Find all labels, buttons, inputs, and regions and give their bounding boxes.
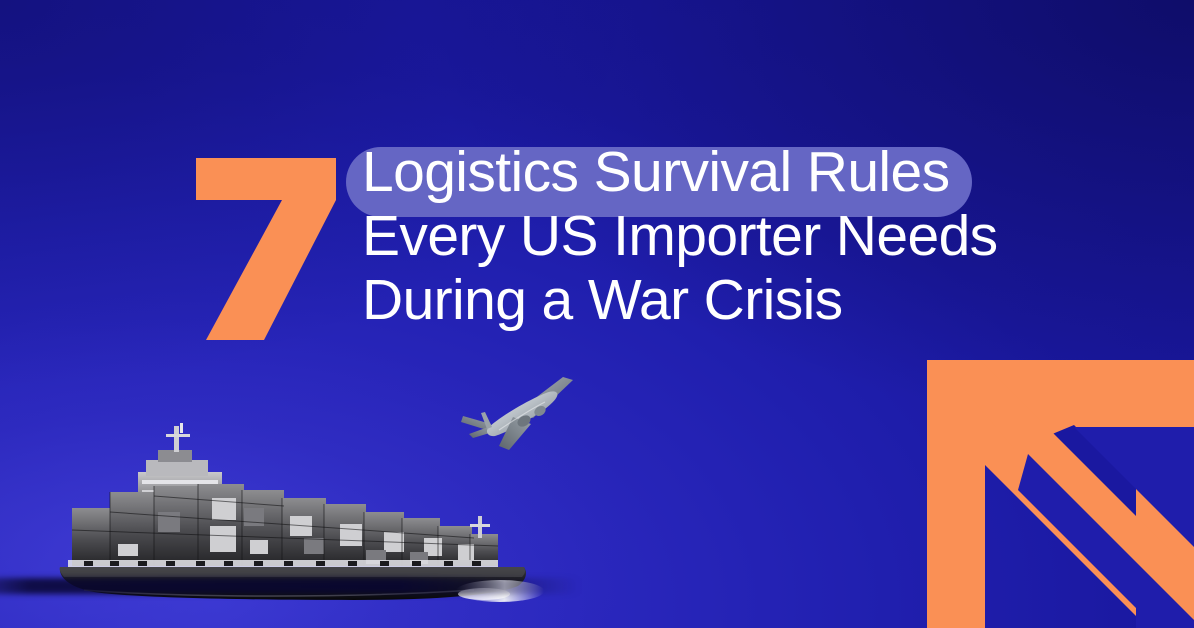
headline-block: Logistics Survival Rules Every US Import… [346, 140, 1046, 332]
numeral-seven [186, 140, 356, 355]
ship-waterline-shadow [0, 578, 580, 594]
headline-line-2-text: Every US Importer Needs [362, 204, 998, 268]
arrow-up-left-icon [900, 330, 1194, 628]
headline-line-1-text: Logistics Survival Rules [362, 140, 950, 204]
headline-line-3-text: During a War Crisis [362, 268, 843, 332]
headline-line-3: During a War Crisis [346, 268, 1046, 332]
headline-line-2: Every US Importer Needs [346, 204, 1046, 268]
headline-line-1: Logistics Survival Rules [346, 140, 1046, 204]
promo-banner: Logistics Survival Rules Every US Import… [0, 0, 1194, 628]
